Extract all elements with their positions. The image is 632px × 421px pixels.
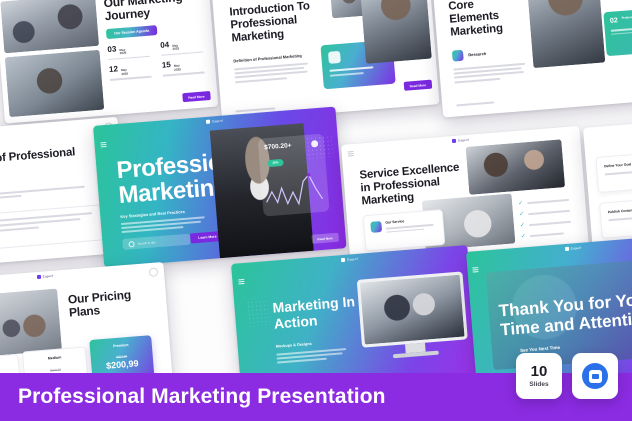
panel-card: Define Your Goal: [595, 149, 632, 193]
close-icon[interactable]: [149, 268, 159, 278]
stat-card: $700.20+ 20%: [258, 134, 330, 217]
logo-mark-icon: [565, 246, 569, 250]
read-more-button[interactable]: Read More: [311, 233, 339, 244]
slide-count-badge: 10 Slides: [516, 353, 562, 399]
brand-logo: Eagenf: [565, 245, 582, 250]
check-icon: ✓: [518, 201, 523, 207]
desktop-monitor-mockup: [357, 271, 469, 363]
logo-mark-icon: [36, 274, 40, 278]
logo-text: Eagenf: [212, 119, 223, 124]
panel-card: Publish Content: [599, 194, 632, 238]
item-label: Professional Company: [622, 14, 632, 21]
logo-text: Eagenf: [458, 138, 469, 143]
checklist-item: ✓: [520, 219, 571, 229]
menu-icon[interactable]: [348, 151, 354, 156]
feature-label: Research: [468, 51, 486, 57]
date-day: 12: [109, 65, 119, 75]
brand-logo: Eagenf: [341, 257, 358, 262]
checklist: ✓ ✓ ✓ ✓: [518, 197, 572, 240]
research-icon: [452, 50, 464, 62]
read-more-button[interactable]: Read More: [403, 80, 432, 91]
google-slides-icon: [582, 363, 608, 389]
checklist-item: ✓: [519, 208, 570, 218]
info-card: [0, 204, 105, 253]
menu-icon[interactable]: [100, 142, 106, 147]
photo-man-laptop: [5, 50, 105, 117]
hero-subtitle: Key Strategies and Best Practices: [120, 209, 185, 219]
numbered-item-featured: 02 Professional Company: [603, 7, 632, 56]
session-agenda-tag: Our Session Agenda: [106, 25, 158, 39]
date-year: 2025: [120, 52, 127, 56]
search-icon: [128, 241, 134, 247]
date-grid: 03 May 2025 04 May 2025: [107, 37, 208, 81]
brand-logo: Eagenf: [206, 119, 223, 124]
banner-title: Professional Marketing Presentation: [18, 385, 386, 409]
body-text: [453, 63, 526, 85]
item-number: 02: [610, 17, 618, 25]
logo-mark-icon: [206, 120, 210, 124]
logo-mark-icon: [341, 258, 345, 262]
service-icon: [370, 221, 382, 233]
page-title: Introduction To Professional Marketing: [229, 0, 336, 45]
date-item: 12 May 2025: [109, 62, 155, 81]
slide-count-value: 10: [531, 364, 548, 379]
page-title: Core Elements Marketing: [448, 0, 513, 39]
logo-mark-icon: [452, 139, 456, 143]
slide-count-label: Slides: [529, 381, 548, 388]
date-day: 03: [107, 44, 117, 54]
check-icon: ✓: [521, 233, 526, 239]
menu-icon[interactable]: [238, 279, 244, 284]
page-title: Marketing In Action: [272, 294, 357, 332]
page-title: Importance of Professional Marketing: [0, 145, 94, 183]
date-day: 15: [162, 61, 172, 71]
card-icon: [328, 51, 341, 64]
stat-badge: 20%: [267, 158, 284, 166]
slide-topbar: Eagenf: [0, 262, 164, 290]
line-chart: [260, 167, 329, 212]
photo-man-writing: [360, 0, 432, 64]
logo-text: Eagenf: [571, 245, 582, 250]
search-placeholder: Search in site: [137, 240, 155, 245]
checklist-item: ✓: [521, 230, 572, 240]
date-year: 2025: [174, 68, 181, 72]
photo-office-meeting: [0, 0, 99, 53]
search-input[interactable]: Search in site: [122, 234, 191, 250]
body-text: [234, 62, 309, 85]
feature-row: Research: [452, 48, 487, 62]
date-item: 04 May 2025: [160, 37, 206, 56]
body-text: [0, 186, 85, 206]
check-icon: ✓: [520, 223, 525, 229]
logo-text: Eagenf: [42, 273, 53, 278]
more-options-icon[interactable]: [311, 140, 319, 148]
section-subtitle: Mockups & Designs: [276, 342, 312, 349]
check-icon: ✓: [519, 212, 524, 218]
plan-name: Regular: [0, 355, 18, 370]
app-format-badge: [572, 353, 618, 399]
checklist-item: ✓: [518, 197, 569, 207]
card-title: Define Your Goal: [604, 162, 631, 168]
presentation-mockup-canvas: Eagenf Our Marketing Journey Our Session…: [0, 0, 632, 421]
stat-value: $700.20+: [264, 142, 292, 151]
slide-marketing-journey[interactable]: Eagenf Our Marketing Journey Our Session…: [0, 0, 218, 124]
slide-footer-note: [456, 102, 494, 107]
date-year: 2025: [172, 48, 179, 52]
brand-logo: Eagenf: [452, 138, 469, 143]
slide-introduction[interactable]: Introduction To Professional Marketing D…: [211, 0, 440, 122]
service-card: Our Service: [363, 209, 446, 251]
date-item: 15 May 2025: [162, 58, 208, 77]
page-title: Our Marketing Journey: [103, 0, 203, 24]
photo-two-businessmen: [466, 139, 566, 195]
plan-name: Medium: [23, 347, 86, 362]
date-day: 04: [160, 40, 170, 50]
date-item: 03 May 2025: [107, 42, 153, 61]
section-subtitle: Definition of Professional Marketing: [233, 53, 302, 63]
plan-name: Premium: [89, 335, 152, 350]
card-title: Publish Content: [608, 208, 632, 214]
badge-group: 10 Slides: [516, 353, 618, 399]
read-more-button[interactable]: Read More: [182, 91, 211, 102]
body-text: [276, 348, 347, 366]
slide-core-elements[interactable]: Core Elements Marketing Research 01 Core…: [432, 0, 632, 118]
page-title: Our Pricing Plans: [67, 287, 147, 320]
photo-two-colleagues-screen: [360, 275, 465, 345]
brand-logo: Eagenf: [36, 273, 53, 278]
menu-icon[interactable]: [473, 267, 479, 272]
decorative-dot-grid: [246, 299, 270, 327]
slide-hero-professional-marketing[interactable]: Eagenf Professional Marketing Key Strate…: [93, 107, 347, 268]
logo-text: Eagenf: [347, 257, 358, 262]
date-year: 2025: [121, 72, 128, 76]
photo-man-office: [526, 0, 605, 68]
